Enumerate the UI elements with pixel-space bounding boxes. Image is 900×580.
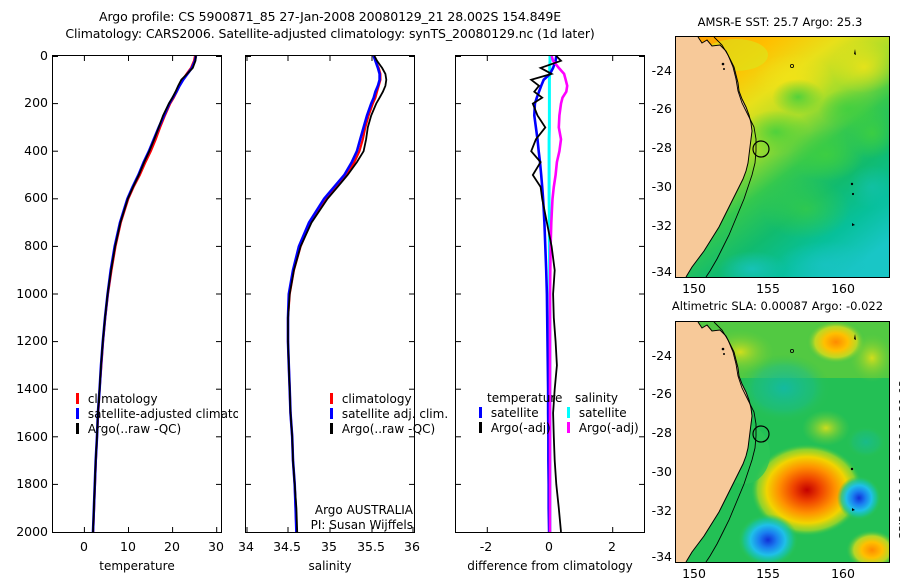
difference-tick-0: 0	[534, 539, 564, 554]
legend-swatch-satellite	[76, 408, 79, 419]
depth-tick-0: 0	[10, 48, 48, 63]
legend-item-salinity-argo: Argo(-adj)	[567, 421, 639, 436]
sst-lat-tick--28: -28	[640, 140, 672, 155]
legend-swatch-temperature-satellite	[479, 407, 482, 418]
legend-header-temperature: temperature	[479, 391, 562, 406]
sla-lat-tick--32: -32	[640, 503, 672, 518]
legend-swatch-salinity-argo	[567, 422, 570, 433]
temperature-tick-30: 30	[201, 539, 231, 554]
sst-lat-tick--26: -26	[640, 101, 672, 116]
sla-lon-tick-155: 155	[753, 566, 783, 580]
sla-lat-tick--34: -34	[640, 549, 672, 564]
credit-line1: Argo AUSTRALIA	[255, 503, 413, 518]
legend-swatch-argo	[330, 423, 333, 434]
legend-swatch-satellite	[330, 408, 333, 419]
legend-item-climatology: climatology	[330, 392, 448, 407]
legend-item-satellite: satellite-adjusted climatology	[76, 407, 238, 422]
salinity-tick-35.5: 35.5	[351, 539, 391, 554]
difference-axis-label: difference from climatology	[455, 559, 645, 573]
difference-legend-temperature: temperature satellite Argo(-adj)	[479, 391, 562, 436]
temperature-tick-20: 20	[157, 539, 187, 554]
legend-label-satellite: satellite-adjusted climatology	[88, 407, 238, 421]
difference-curves	[456, 56, 644, 532]
legend-item-satellite: satellite adj. clim.	[330, 407, 448, 422]
depth-tick-800: 800	[4, 238, 48, 253]
temperature-legend: climatology satellite-adjusted climatolo…	[76, 392, 238, 437]
depth-tick-1800: 1800	[0, 476, 48, 491]
legend-label-salinity-argo: Argo(-adj)	[579, 421, 639, 435]
depth-tick-400: 400	[4, 143, 48, 158]
legend-label-satellite: satellite adj. clim.	[342, 407, 448, 421]
sst-lat-tick--24: -24	[640, 63, 672, 78]
temperature-tick-0: 0	[69, 539, 99, 554]
legend-swatch-salinity-satellite	[567, 407, 570, 418]
difference-tick-2: 2	[597, 539, 627, 554]
temperature-curves	[53, 56, 221, 532]
legend-label-temperature: temperature	[487, 391, 562, 405]
sst-lon-tick-150: 150	[679, 281, 709, 296]
salinity-curves	[246, 56, 414, 532]
salinity-axis-label: salinity	[245, 559, 415, 573]
legend-label-climatology: climatology	[88, 392, 158, 406]
legend-label-salinity: salinity	[575, 391, 618, 405]
depth-tick-600: 600	[4, 190, 48, 205]
difference-tick-neg2: -2	[471, 539, 501, 554]
legend-label-temperature-argo: Argo(-adj)	[491, 421, 551, 435]
difference-legend-salinity: salinity satellite Argo(-adj)	[567, 391, 639, 436]
sla-lat-tick--30: -30	[640, 464, 672, 479]
sst-map-panel	[675, 36, 890, 278]
sla-lat-tick--24: -24	[640, 348, 672, 363]
sla-lat-tick--28: -28	[640, 425, 672, 440]
sst-lat-tick--32: -32	[640, 218, 672, 233]
figure-title-line1: Argo profile: CS 5900871_85 27-Jan-2008 …	[0, 9, 660, 24]
legend-swatch-climatology	[330, 393, 333, 404]
legend-swatch-argo	[76, 423, 79, 434]
salinity-tick-34: 34	[231, 539, 261, 554]
legend-item-temperature-argo: Argo(-adj)	[479, 421, 562, 436]
salinity-tick-34.5: 34.5	[267, 539, 307, 554]
salinity-legend: climatology satellite adj. clim. Argo(..…	[330, 392, 448, 437]
legend-label-argo: Argo(..raw -QC)	[88, 422, 181, 436]
salinity-profile-panel	[245, 55, 415, 533]
argo-profile-figure: Argo profile: CS 5900871_85 27-Jan-2008 …	[0, 0, 900, 580]
depth-tick-1400: 1400	[0, 381, 48, 396]
legend-label-salinity-satellite: satellite	[579, 406, 627, 420]
temperature-profile-panel	[52, 55, 222, 533]
temperature-axis-label: temperature	[52, 559, 222, 573]
legend-swatch-temperature-argo	[479, 422, 482, 433]
temperature-legend-clip: climatology satellite-adjusted climatolo…	[76, 392, 238, 440]
difference-profile-panel	[455, 55, 645, 533]
argo-australia-credit: Argo AUSTRALIA PI: Susan Wijffels	[255, 503, 413, 533]
legend-item-argo: Argo(..raw -QC)	[76, 422, 238, 437]
depth-tick-2000: 2000	[0, 524, 48, 539]
legend-label-argo: Argo(..raw -QC)	[342, 422, 435, 436]
legend-label-climatology: climatology	[342, 392, 412, 406]
salinity-tick-35: 35	[314, 539, 344, 554]
figure-title-line2: Climatology: CARS2006. Satellite-adjuste…	[0, 26, 660, 41]
legend-header-salinity: salinity	[567, 391, 639, 406]
sla-lon-tick-160: 160	[828, 566, 858, 580]
legend-label-temperature-satellite: satellite	[491, 406, 539, 420]
sst-lat-tick--30: -30	[640, 179, 672, 194]
depth-tick-200: 200	[4, 95, 48, 110]
salinity-tick-36: 36	[397, 539, 427, 554]
sla-map-title: Altimetric SLA: 0.00087 Argo: -0.022	[655, 299, 900, 313]
temperature-tick-10: 10	[113, 539, 143, 554]
sla-map-image	[676, 322, 889, 562]
credit-line2: PI: Susan Wijffels	[255, 518, 413, 533]
sst-lat-tick--34: -34	[640, 264, 672, 279]
legend-item-climatology: climatology	[76, 392, 238, 407]
sst-map-title: AMSR-E SST: 25.7 Argo: 25.3	[660, 15, 900, 29]
depth-tick-1000: 1000	[0, 286, 48, 301]
sla-lon-tick-150: 150	[679, 566, 709, 580]
sla-lat-tick--26: -26	[640, 386, 672, 401]
depth-tick-1600: 1600	[0, 429, 48, 444]
sst-map-image	[676, 37, 889, 277]
legend-item-salinity-satellite: satellite	[567, 406, 639, 421]
sst-lon-tick-160: 160	[828, 281, 858, 296]
legend-item-argo: Argo(..raw -QC)	[330, 422, 448, 437]
legend-swatch-climatology	[76, 393, 79, 404]
sla-map-panel	[675, 321, 890, 563]
sst-lon-tick-155: 155	[753, 281, 783, 296]
depth-tick-1200: 1200	[0, 333, 48, 348]
legend-item-temperature-satellite: satellite	[479, 406, 562, 421]
